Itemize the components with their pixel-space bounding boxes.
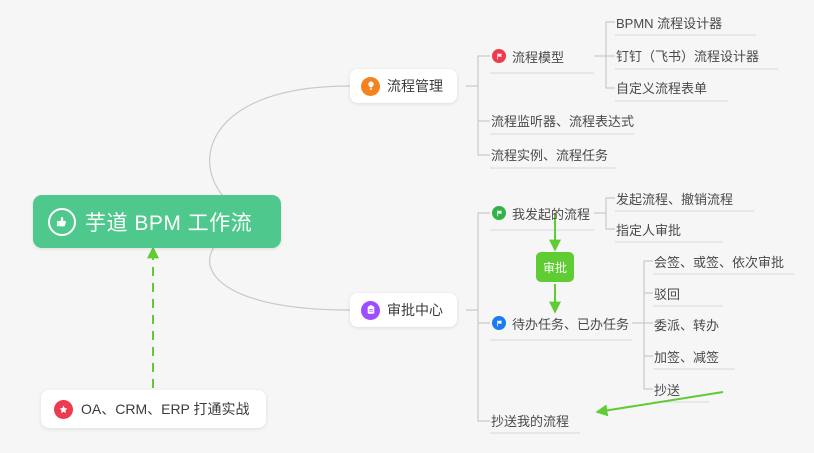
leaf-node-delegate-transfer[interactable]: 委派、转办 <box>654 315 719 338</box>
mindmap-canvas: 芋道 BPM 工作流 流程管理 流程模型 BPMN 流程设计器 钉钉（飞书）流程… <box>0 0 814 453</box>
flag-icon <box>492 49 506 63</box>
leaf-node-cc-to-me[interactable]: 抄送我的流程 <box>491 411 569 434</box>
leaf-node-countersign[interactable]: 会签、或签、依次审批 <box>654 252 784 275</box>
leaf-node-dingtalk-designer[interactable]: 钉钉（飞书）流程设计器 <box>616 46 759 69</box>
approval-annotation-label: 审批 <box>543 259 567 276</box>
star-icon <box>54 400 73 419</box>
sub-node-process-model[interactable]: 流程模型 <box>492 44 564 68</box>
callout-label: OA、CRM、ERP 打通实战 <box>81 399 250 419</box>
callout-node-integration[interactable]: OA、CRM、ERP 打通实战 <box>41 390 266 428</box>
branch-node-process-management[interactable]: 流程管理 <box>350 69 457 103</box>
leaf-node-assignee-approval[interactable]: 指定人审批 <box>616 220 681 243</box>
flag-icon <box>492 316 506 330</box>
clipboard-icon <box>361 301 380 320</box>
leaf-node-cc[interactable]: 抄送 <box>654 380 680 403</box>
leaf-node-process-listener[interactable]: 流程监听器、流程表达式 <box>491 111 634 134</box>
leaf-node-custom-form[interactable]: 自定义流程表单 <box>616 78 707 101</box>
branch-label: 流程管理 <box>387 76 443 96</box>
root-label: 芋道 BPM 工作流 <box>85 207 252 237</box>
leaf-node-add-remove-sign[interactable]: 加签、减签 <box>654 347 719 370</box>
sub-node-my-initiated[interactable]: 我发起的流程 <box>492 201 590 225</box>
leaf-node-reject[interactable]: 驳回 <box>654 284 680 307</box>
sub-node-label: 我发起的流程 <box>512 204 590 223</box>
sub-node-label: 流程模型 <box>512 47 564 66</box>
leaf-node-start-cancel-process[interactable]: 发起流程、撤销流程 <box>616 189 733 212</box>
approval-annotation-badge: 审批 <box>536 252 574 282</box>
branch-label: 审批中心 <box>387 300 443 320</box>
lightbulb-pin-icon <box>361 77 380 96</box>
branch-node-approval-center[interactable]: 审批中心 <box>350 293 457 327</box>
root-node[interactable]: 芋道 BPM 工作流 <box>33 195 281 248</box>
leaf-node-process-instance[interactable]: 流程实例、流程任务 <box>491 145 608 168</box>
sub-node-label: 待办任务、已办任务 <box>512 314 629 333</box>
thumbs-up-icon <box>48 208 76 236</box>
leaf-node-bpmn-designer[interactable]: BPMN 流程设计器 <box>616 13 722 36</box>
flag-icon <box>492 206 506 220</box>
sub-node-todo-done-tasks[interactable]: 待办任务、已办任务 <box>492 311 629 335</box>
